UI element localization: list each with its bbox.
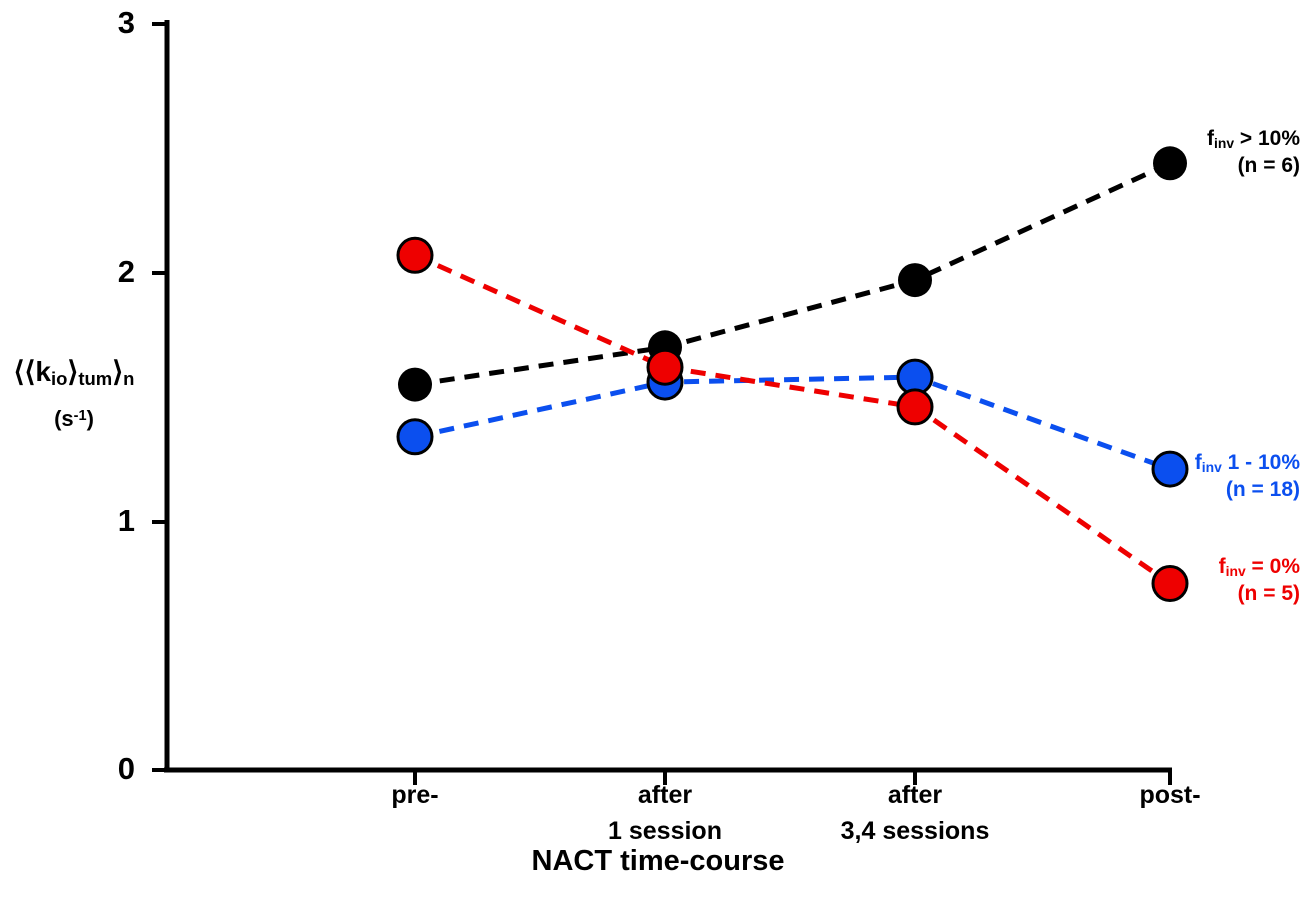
legend-black-sub: inv <box>1214 135 1234 151</box>
data-point[interactable] <box>898 390 932 424</box>
x-tick-label-after-1-session-line1: after <box>638 781 692 809</box>
legend-red-line1: finv = 0% <box>1000 554 1300 581</box>
y-axis-sub-tum: tum <box>78 368 112 389</box>
legend-red: finv = 0% (n = 5) <box>1000 554 1300 608</box>
legend-red-line2: (n = 5) <box>1000 581 1300 608</box>
x-tick-label-after-3-4-sessions: after 3,4 sessions <box>805 778 1025 849</box>
chart-canvas: 3 2 1 0 ⟨⟨kio⟩tum⟩n (s-1) pre- after 1 s… <box>0 0 1316 906</box>
x-tick-label-pre-line1: pre- <box>391 781 438 809</box>
data-point[interactable] <box>398 238 432 272</box>
y-axis-sub-io: io <box>51 368 67 389</box>
y-axis-title: ⟨⟨kio⟩tum⟩n (s-1) <box>0 355 148 432</box>
legend-blue-line1: finv 1 - 10% <box>1000 450 1300 477</box>
legend-black-line2: (n = 6) <box>1000 153 1300 180</box>
y-axis-title-main: ⟨⟨kio⟩tum⟩n <box>0 355 148 390</box>
x-tick-label-post: post- <box>1060 778 1280 814</box>
legend-black-line1: finv > 10% <box>1000 126 1300 153</box>
x-tick-label-pre: pre- <box>305 778 525 814</box>
series-2 <box>415 255 1170 583</box>
x-axis-title: NACT time-course <box>0 845 1316 878</box>
legend-black: finv > 10% (n = 6) <box>1000 126 1300 180</box>
legend-black-rest: > 10% <box>1234 127 1300 150</box>
series-0 <box>415 163 1170 384</box>
series-markers-2 <box>398 238 1187 600</box>
legend-red-sub: inv <box>1226 563 1246 579</box>
series-line-0 <box>415 163 1170 384</box>
data-point[interactable] <box>898 263 932 297</box>
legend-red-f: f <box>1219 555 1226 578</box>
x-tick-label-after-1-session-line2: 1 session <box>608 817 722 845</box>
legend-blue-line2: (n = 18) <box>1000 477 1300 504</box>
data-point[interactable] <box>398 420 432 454</box>
x-tick-label-after-1-session: after 1 session <box>555 778 775 849</box>
legend-blue-sub: inv <box>1202 459 1222 475</box>
legend-blue: finv 1 - 10% (n = 18) <box>1000 450 1300 504</box>
data-point[interactable] <box>648 350 682 384</box>
series-markers-0 <box>398 146 1187 401</box>
data-point[interactable] <box>398 368 432 402</box>
y-axis-units: (s-1) <box>0 406 148 432</box>
legend-red-rest: = 0% <box>1246 555 1300 578</box>
y-tick-label-0: 0 <box>95 751 135 787</box>
series-line-2 <box>415 255 1170 583</box>
x-tick-label-after-3-4-sessions-line2: 3,4 sessions <box>841 817 990 845</box>
data-series-layer <box>398 146 1187 600</box>
y-axis-sub-n: n <box>123 368 134 389</box>
legend-blue-f: f <box>1195 451 1202 474</box>
y-tick-label-3: 3 <box>95 5 135 41</box>
x-tick-label-post-line1: post- <box>1139 781 1200 809</box>
legend-blue-rest: 1 - 10% <box>1222 451 1300 474</box>
y-tick-label-1: 1 <box>95 503 135 539</box>
y-tick-label-2: 2 <box>95 254 135 290</box>
x-tick-label-after-3-4-sessions-line1: after <box>888 781 942 809</box>
y-axis-units-exponent: -1 <box>74 408 87 424</box>
legend-black-f: f <box>1207 127 1214 150</box>
